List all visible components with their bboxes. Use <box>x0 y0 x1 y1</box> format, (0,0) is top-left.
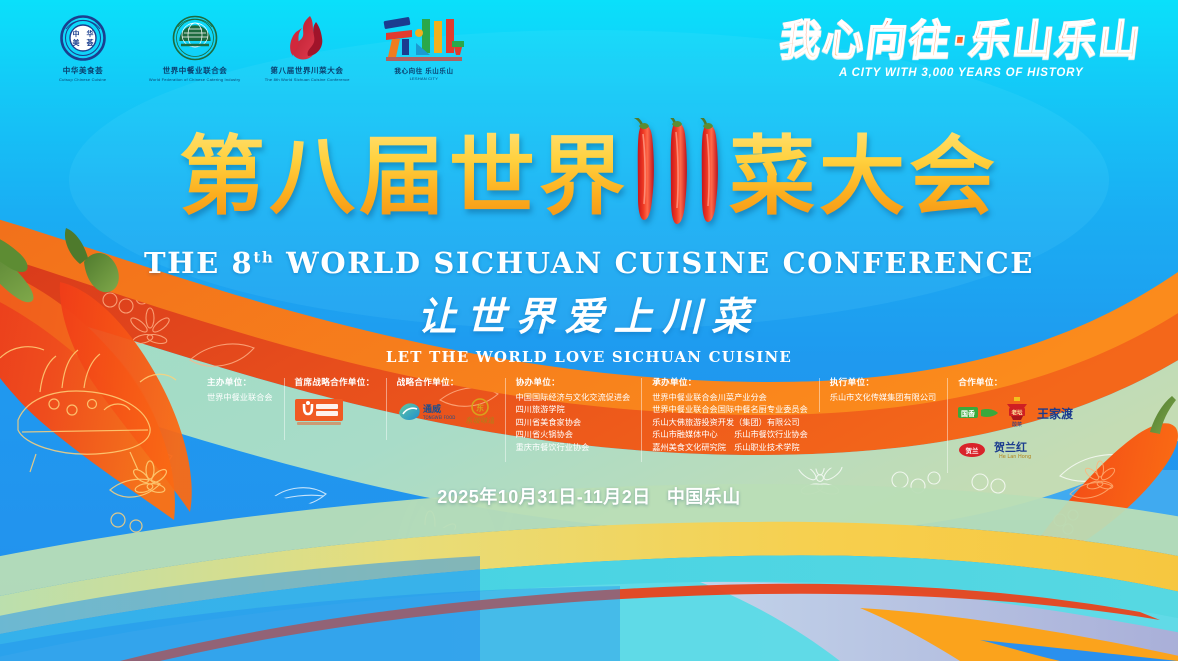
sub-slogan-en: LET THE WORLD LOVE SICHUAN CUISINE <box>0 348 1178 366</box>
sponsor-line: 乐山大佛旅游投资开发（集团）有限公司 <box>652 417 808 429</box>
red-oval-brand-logo[interactable]: 贺兰 <box>958 442 986 463</box>
svg-text:王家渡: 王家渡 <box>1037 406 1074 421</box>
svg-text:TONGWEI FOOD: TONGWEI FOOD <box>422 415 455 420</box>
city-slogan: 我心向往·乐山乐山 A CITY WITH 3,000 YEARS OF HIS… <box>780 20 1142 79</box>
sponsor-line: 中国国际经济与文化交流促进会 <box>516 392 631 404</box>
sponsor-heading: 首席战略合作单位： <box>295 376 375 388</box>
wangjiadu-logo[interactable]: 王家渡 <box>1036 405 1082 426</box>
conference-date: 2025年10月31日-11月2日 <box>437 487 651 507</box>
main-title-en-post: WORLD SICHUAN CUISINE CONFERENCE <box>274 246 1034 280</box>
helanhong-logo[interactable]: 贺兰红 He Lan Hong <box>993 440 1043 465</box>
sponsor-line: 四川省火锅协会 <box>516 429 631 441</box>
sponsor-line: 世界中餐业联合会 <box>207 392 273 404</box>
sponsor-column-executor: 执行单位： 乐山市文化传媒集团有限公司 <box>819 376 947 404</box>
main-title-en: THE 8th WORLD SICHUAN CUISINE CONFERENCE <box>0 246 1178 280</box>
svg-text:贺兰: 贺兰 <box>965 446 980 455</box>
sponsor-line: 嘉州美食文化研究院 乐山职业技术学院 <box>652 442 808 454</box>
sponsor-heading: 主办单位： <box>207 376 273 388</box>
sponsor-column-strategic: 战略合作单位： 通威 TONGWEI FOOD <box>386 376 505 432</box>
date-location-line: 2025年10月31日-11月2日中国乐山 <box>0 483 1178 509</box>
svg-text:He Lan Hong: He Lan Hong <box>999 454 1031 460</box>
svg-text:酸菜: 酸菜 <box>1012 421 1022 428</box>
svg-text:荟: 荟 <box>86 38 95 47</box>
red-pagoda-brand-logo[interactable]: 老坛 酸菜 <box>1005 397 1029 434</box>
sponsor-heading: 协办单位： <box>516 376 631 388</box>
sponsor-band: 主办单位： 世界中餐业联合会 首席战略合作单位： <box>196 376 1126 462</box>
green-brand-logo[interactable]: 国香 <box>958 405 998 426</box>
city-slogan-cn: 我心向往·乐山乐山 <box>778 20 1145 61</box>
logo-sichuan-cuisine-conference[interactable]: 第八届世界川菜大会 The 8th World Sichuan Cuisine … <box>264 14 350 82</box>
sponsor-heading: 战略合作单位： <box>397 376 494 388</box>
logo-chinese-cuisine-association[interactable]: 中 华 美 荟 中华美食荟 Cutsup Chinese Cuisine <box>40 14 126 82</box>
main-title-en-sup: th <box>253 248 274 266</box>
conference-poster: 中 华 美 荟 中华美食荟 Cutsup Chinese Cuisine <box>0 0 1178 661</box>
svg-text:贺兰红: 贺兰红 <box>993 440 1027 454</box>
logo-label-cn: 世界中餐业联合会 <box>163 65 228 76</box>
world-federation-chinese-catering-globe-icon <box>172 14 218 62</box>
sponsor-column-partners: 合作单位： 国香 老坛 酸菜 <box>947 376 1125 465</box>
svg-text:老坛: 老坛 <box>1011 409 1024 417</box>
sponsor-line: 乐山市融媒体中心 乐山市餐饮行业协会 <box>652 429 808 441</box>
svg-text:中: 中 <box>73 29 80 38</box>
sponsor-line: 世界中餐业联合会川菜产业分会 <box>652 392 808 404</box>
logo-leshan-city-brand[interactable]: 我心向往 乐山乐山 LESHAN CITY <box>376 14 472 81</box>
main-title-cn-before: 第八届世界 <box>179 132 629 222</box>
svg-text:美: 美 <box>73 38 81 47</box>
sponsor-column-co-organizer: 协办单位： 中国国际经济与文化交流促进会 四川旅游学院 四川省美食家协会 四川省… <box>505 376 642 454</box>
logo-label-en: LESHAN CITY <box>410 76 438 81</box>
main-title-en-pre: THE 8 <box>144 246 253 280</box>
sponsor-heading: 执行单位： <box>830 376 936 388</box>
unilever-food-solutions-logo[interactable] <box>295 397 343 432</box>
logo-bar: 中 华 美 荟 中华美食荟 Cutsup Chinese Cuisine <box>40 14 472 92</box>
sponsor-column-organizer: 承办单位： 世界中餐业联合会川菜产业分会 世界中餐业联合会国际中餐名厨专业委员会… <box>641 376 819 454</box>
logo-label-cn: 中华美食荟 <box>63 65 104 76</box>
logo-label-cn: 我心向往 乐山乐山 <box>394 65 453 75</box>
sponsor-column-host: 主办单位： 世界中餐业联合会 <box>196 376 284 404</box>
svg-text:东坡味道: 东坡味道 <box>466 416 494 425</box>
main-title-cn-after: 菜大会 <box>729 132 999 222</box>
title-chili-trio <box>631 118 727 228</box>
svg-text:华: 华 <box>87 29 94 38</box>
logo-label-cn: 第八届世界川菜大会 <box>271 65 344 76</box>
svg-text:通威: 通威 <box>423 403 441 415</box>
chinese-cuisine-association-seal-icon: 中 华 美 荟 <box>60 14 106 62</box>
sponsor-column-chief-strategic: 首席战略合作单位： <box>284 376 386 432</box>
sichuan-cuisine-conference-flame-icon <box>284 14 330 62</box>
logo-label-en: Cutsup Chinese Cuisine <box>59 77 106 82</box>
logo-label-en: The 8th World Sichuan Cuisine Conference <box>265 77 350 82</box>
logo-world-federation-chinese-catering[interactable]: 世界中餐业联合会 World Federation of Chinese Cat… <box>152 14 238 82</box>
dongpo-taste-logo[interactable]: 东 东坡味道 <box>466 397 494 432</box>
sponsor-line: 乐山市文化传媒集团有限公司 <box>830 392 936 404</box>
main-title: 第八届世界 <box>0 122 1178 280</box>
sponsor-line: 四川省美食家协会 <box>516 417 631 429</box>
svg-text:国香: 国香 <box>961 409 976 418</box>
sponsor-heading: 合作单位： <box>958 376 1114 388</box>
sub-slogan: 让世界爱上川菜 LET THE WORLD LOVE SICHUAN CUISI… <box>0 286 1178 366</box>
tongwei-food-logo[interactable]: 通威 TONGWEI FOOD <box>397 399 459 430</box>
svg-text:东: 东 <box>476 403 484 413</box>
city-slogan-en: A CITY WITH 3,000 YEARS OF HISTORY <box>780 67 1142 79</box>
sponsor-line: 重庆市餐饮行业协会 <box>516 442 631 454</box>
conference-location: 中国乐山 <box>667 487 741 507</box>
leshan-city-brand-icon <box>378 14 470 62</box>
sponsor-line: 四川旅游学院 <box>516 404 631 416</box>
logo-label-en: World Federation of Chinese Catering Ind… <box>149 77 240 82</box>
sponsor-heading: 承办单位： <box>652 376 808 388</box>
sub-slogan-cn: 让世界爱上川菜 <box>0 286 1178 342</box>
sponsor-line: 世界中餐业联合会国际中餐名厨专业委员会 <box>652 404 808 416</box>
